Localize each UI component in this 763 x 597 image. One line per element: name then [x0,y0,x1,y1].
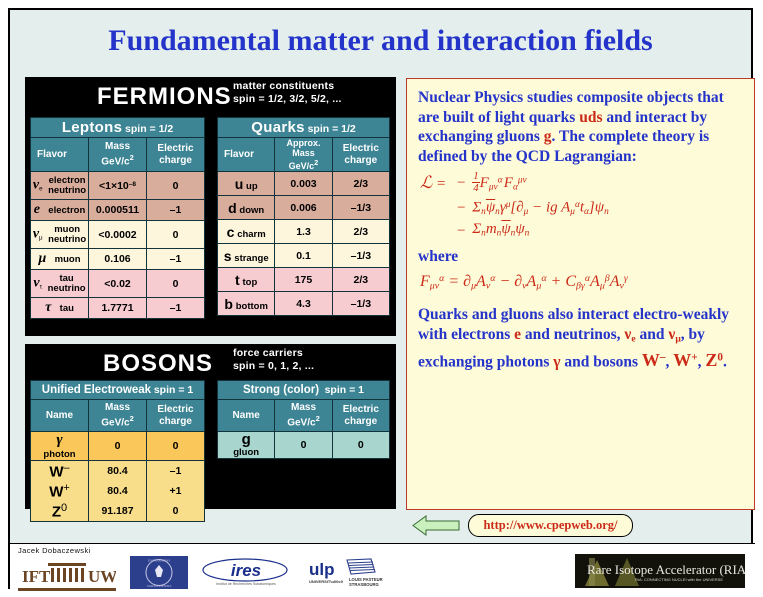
quarks-header-row: Flavor Approx. Mass GeV/c2 Electric char… [218,138,390,172]
lepton-charge-cell: 0 [147,172,205,200]
lepton-flavor-cell: τ tau [31,298,89,319]
particle-symbol: s [224,248,232,264]
quark-mass-cell: 0.006 [275,196,332,220]
boson-name-cell: γ photon [31,432,89,461]
author-label: Jacek Dobaczewski [18,546,91,555]
particle-symbol: τ [45,300,51,315]
electroweak-col-mass: Mass GeV/c2 [89,400,147,432]
quark-charge-cell: 2/3 [332,220,389,244]
particle-symbol: Z [52,504,61,521]
boson-name-cell: g gluon [218,432,275,459]
strong-group-row: Strong (color) spin = 1 [218,381,390,400]
table-row: νμ muonneutrino <0.0002 0 [31,221,205,249]
particle-name: gluon [233,447,259,458]
particle-name-l2: neutrino [48,234,86,245]
quarks-col-charge: Electric charge [332,138,389,172]
svg-text:UW: UW [88,567,116,586]
svg-text:ires: ires [231,561,261,580]
fermions-panel-header: FERMIONS matter constituents spin = 1/2,… [25,77,396,115]
strong-group-name: Strong (color) [243,384,319,396]
qcd-lagrangian-equation: ℒ = − 14Fμνα Fαμν − Σnψnγμ[∂μ − ig Aμαtα… [418,171,744,242]
leptons-col-charge-l2: charge [159,155,192,166]
svg-text:IFT: IFT [22,567,51,586]
fermions-subtitle-line1: matter constituents [233,80,342,93]
particle-symbol-sub: τ [40,283,42,290]
quark-flavor-cell: u up [218,172,275,196]
strong-group-spin: spin = 1 [325,384,364,396]
lepton-mass-cell: 0.000511 [89,200,147,221]
svg-text:VARSOVIENSIS: VARSOVIENSIS [147,584,172,588]
table-row: u up 0.003 2/3 [218,172,390,196]
boson-charge-cell: 0 [147,501,205,522]
quark-charge-cell: –1/3 [332,292,389,316]
boson-charge-cell: 0 [147,432,205,461]
quarks-col-charge-l2: charge [344,155,377,166]
leptons-col-mass-l2: GeV/c [101,157,129,168]
where-label: where [418,248,744,266]
svg-text:UNIVERSIT\u00c9: UNIVERSIT\u00c9 [309,579,344,584]
fermions-panel: FERMIONS matter constituents spin = 1/2,… [25,77,396,336]
bosons-subtitle-line1: force carriers [233,347,314,360]
table-row: νe electronneutrino <1×10–8 0 [31,172,205,200]
quark-mass-cell: 0.1 [275,244,332,268]
particle-name: charm [237,229,266,240]
quark-flavor-cell: c charm [218,220,275,244]
electroweak-group-name: Unified Electroweak [42,384,151,396]
particle-symbol: W [49,484,63,501]
leptons-group-spin: spin = 1/2 [125,123,173,135]
table-row: d down 0.006 –1/3 [218,196,390,220]
table-row: μ muon 0.106 –1 [31,249,205,270]
electroweak-table: Unified Electroweak spin = 1 Name Mass G… [30,380,205,522]
boson-name-cell: W– [31,461,89,482]
quarks-col-mass-l0: Approx. [286,138,320,148]
leptons-group-row: Leptons spin = 1/2 [31,118,205,138]
boson-charge-cell: 0 [332,432,389,459]
boson-name-cell: W+ [31,481,89,501]
quark-charge-cell: 2/3 [332,268,389,292]
particle-name: tau [60,303,74,314]
strong-col-charge: Electric charge [332,400,389,432]
svg-text:UNIVERSITAS: UNIVERSITAS [148,559,171,563]
boson-mass-cell: 0 [89,432,147,461]
lepton-charge-cell: –1 [147,298,205,319]
quark-mass-cell: 1.3 [275,220,332,244]
leptons-col-flavor: Flavor [31,138,89,172]
photon-highlight: γ [553,353,560,370]
slide-canvas: Fundamental matter and interaction field… [8,8,753,589]
quark-flavor-cell: s strange [218,244,275,268]
left-arrow-icon[interactable] [412,515,460,536]
table-row: τ tau 1.7771 –1 [31,298,205,319]
lepton-mass-cell: <1×10–8 [89,172,147,200]
quark-charge-cell: –1/3 [332,196,389,220]
lepton-charge-cell: –1 [147,200,205,221]
leptons-table: Leptons spin = 1/2 Flavor Mass GeV/c2 El… [30,117,205,319]
leptons-col-charge: Electric charge [147,138,205,172]
lepton-charge-cell: –1 [147,249,205,270]
particle-symbol: γ [56,432,62,448]
ift-uw-logo: IFT UW [18,558,116,591]
uds-highlight: uds [579,109,602,126]
leptons-header-row: Flavor Mass GeV/c2 Electric charge [31,138,205,172]
electron-highlight: e [514,326,521,343]
cpep-url-link[interactable]: http://www.cpepweb.org/ [468,514,633,537]
quarks-table: Quarks spin = 1/2 Flavor Approx. Mass Ge… [217,117,390,316]
quark-mass-cell: 4.3 [275,292,332,316]
particle-symbol: t [235,272,240,288]
g-highlight: g [544,128,552,145]
particle-name: down [239,205,264,216]
lepton-charge-cell: 0 [147,221,205,249]
svg-text:STRASBOURG: STRASBOURG [349,582,379,587]
fermions-title: FERMIONS [97,83,232,111]
footer-bar: Jacek Dobaczewski IFT UW UNIVERSITAS [10,543,755,589]
nu-e-highlight: νe [624,326,635,343]
lepton-flavor-cell: e electron [31,200,89,221]
leptons-col-mass: Mass GeV/c2 [89,138,147,172]
table-row: ντ tauneutrino <0.02 0 [31,270,205,298]
ria-logo: Rare Isotope Accelerator (RIA) RIA: CONN… [575,554,745,588]
particle-name: up [246,181,258,192]
svg-text:Institut de Recherches Subatom: Institut de Recherches Subatomiques [216,582,276,586]
particle-symbol: μ [39,251,47,266]
particle-symbol-sub: e [39,185,42,192]
particle-name: electron [48,205,85,216]
w-minus-highlight: W– [642,350,666,370]
fermions-subtitle-line2: spin = 1/2, 3/2, 5/2, ... [233,93,342,106]
bosons-subtitle: force carriers spin = 0, 1, 2, ... [233,347,314,372]
quarks-group-name: Quarks [251,119,305,136]
field-strength-equation: Fμνα = ∂μAνα − ∂νAμα + CβγαAμβAνγ [420,270,744,295]
quark-flavor-cell: t top [218,268,275,292]
boson-mass-cell: 0 [275,432,332,459]
boson-mass-cell: 80.4 [89,481,147,501]
svg-text:ulp: ulp [309,560,335,579]
boson-name-cell: Z0 [31,501,89,522]
leptons-col-mass-sup: 2 [130,153,134,162]
leptons-col-mass-l1: Mass [105,141,130,152]
lepton-mass-cell: <0.0002 [89,221,147,249]
lepton-flavor-cell: μ muon [31,249,89,270]
lepton-mass-cell: 0.106 [89,249,147,270]
svg-text:Rare Isotope Accelerator (RIA): Rare Isotope Accelerator (RIA) [587,562,745,577]
table-row: W+ 80.4 +1 [31,481,205,501]
particle-symbol: g [242,431,251,448]
quark-flavor-cell: b bottom [218,292,275,316]
lepton-mass-cell: <0.02 [89,270,147,298]
table-row: W– 80.4 –1 [31,461,205,482]
table-row: Z0 91.187 0 [31,501,205,522]
quarks-col-mass-l2: GeV/c [289,161,315,171]
bosons-panel-header: BOSONS force carriers spin = 0, 1, 2, ..… [25,344,396,382]
lepton-flavor-cell: νμ muonneutrino [31,221,89,249]
w-plus-highlight: W+ [673,350,697,370]
table-row: b bottom 4.3 –1/3 [218,292,390,316]
particle-name: top [243,277,258,288]
notes-paragraph-1: Nuclear Physics studies composite object… [418,88,744,166]
page-title: Fundamental matter and interaction field… [10,24,751,58]
particle-symbol: c [227,224,235,240]
university-warsaw-logo: UNIVERSITAS VARSOVIENSIS [130,556,188,589]
particle-name: bottom [236,301,268,312]
nu-mu-highlight: νμ [668,326,680,343]
boson-mass-cell: 80.4 [89,461,147,482]
table-row: s strange 0.1 –1/3 [218,244,390,268]
particle-name: strange [234,253,268,264]
electroweak-header-row: Name Mass GeV/c2 Electric charge [31,400,205,432]
boson-charge-cell: –1 [147,461,205,482]
ires-logo: ires Institut de Recherches Subatomiques [200,556,295,589]
svg-text:RIA: CONNECTING NUCLEI with th: RIA: CONNECTING NUCLEI with the UNIVERSE [635,577,723,582]
quarks-col-flavor: Flavor [218,138,275,172]
leptons-group-name: Leptons [62,119,122,136]
quarks-col-charge-l1: Electric [343,143,379,154]
strong-table: Strong (color) spin = 1 Name Mass GeV/c2… [217,380,390,459]
particle-name-l2: neutrino [48,185,86,196]
particle-symbol-sub: μ [39,234,43,241]
table-row: e electron 0.000511 –1 [31,200,205,221]
fermions-subtitle: matter constituents spin = 1/2, 3/2, 5/2… [233,80,342,105]
notes-panel: Nuclear Physics studies composite object… [406,78,755,510]
strong-header-row: Name Mass GeV/c2 Electric charge [218,400,390,432]
quark-charge-cell: –1/3 [332,244,389,268]
lepton-flavor-cell: νe electronneutrino [31,172,89,200]
lepton-mass-cell: 1.7771 [89,298,147,319]
z-zero-highlight: Z0 [705,350,723,370]
particle-symbol: b [224,296,233,312]
electroweak-group-spin: spin = 1 [154,384,193,396]
leptons-col-charge-l1: Electric [157,143,193,154]
lepton-flavor-cell: ντ tauneutrino [31,270,89,298]
quark-mass-cell: 0.003 [275,172,332,196]
table-row: g gluon 0 0 [218,432,390,459]
quark-mass-cell: 175 [275,268,332,292]
bosons-panel: BOSONS force carriers spin = 0, 1, 2, ..… [25,344,396,509]
table-row: c charm 1.3 2/3 [218,220,390,244]
bosons-subtitle-line2: spin = 0, 1, 2, ... [233,360,314,373]
particle-name-l2: neutrino [48,283,86,294]
quarks-group-spin: spin = 1/2 [308,123,356,135]
notes-paragraph-2: Quarks and gluons also interact electro-… [418,305,744,372]
table-row: t top 175 2/3 [218,268,390,292]
bosons-title: BOSONS [103,350,213,378]
quarks-col-mass: Approx. Mass GeV/c2 [275,138,332,172]
table-row: γ photon 0 0 [31,432,205,461]
strong-col-mass: Mass GeV/c2 [275,400,332,432]
quark-flavor-cell: d down [218,196,275,220]
electroweak-col-name: Name [31,400,89,432]
lepton-charge-cell: 0 [147,270,205,298]
quark-charge-cell: 2/3 [332,172,389,196]
particle-symbol: d [228,200,237,216]
particle-symbol: e [34,202,40,217]
strong-col-name: Name [218,400,275,432]
particle-name: muon [55,254,81,265]
particle-symbol: u [235,176,244,192]
quarks-col-mass-l1: Mass [292,148,315,158]
particle-symbol: W [49,464,63,481]
quarks-col-mass-sup: 2 [314,158,318,167]
electroweak-col-charge: Electric charge [147,400,205,432]
quarks-group-row: Quarks spin = 1/2 [218,118,390,138]
boson-charge-cell: +1 [147,481,205,501]
electroweak-group-row: Unified Electroweak spin = 1 [31,381,205,400]
particle-name: photon [43,449,75,460]
boson-mass-cell: 91.187 [89,501,147,522]
ulp-logo: ulp UNIVERSIT\u00c9 LOUIS PASTEUR STRASB… [305,556,400,589]
